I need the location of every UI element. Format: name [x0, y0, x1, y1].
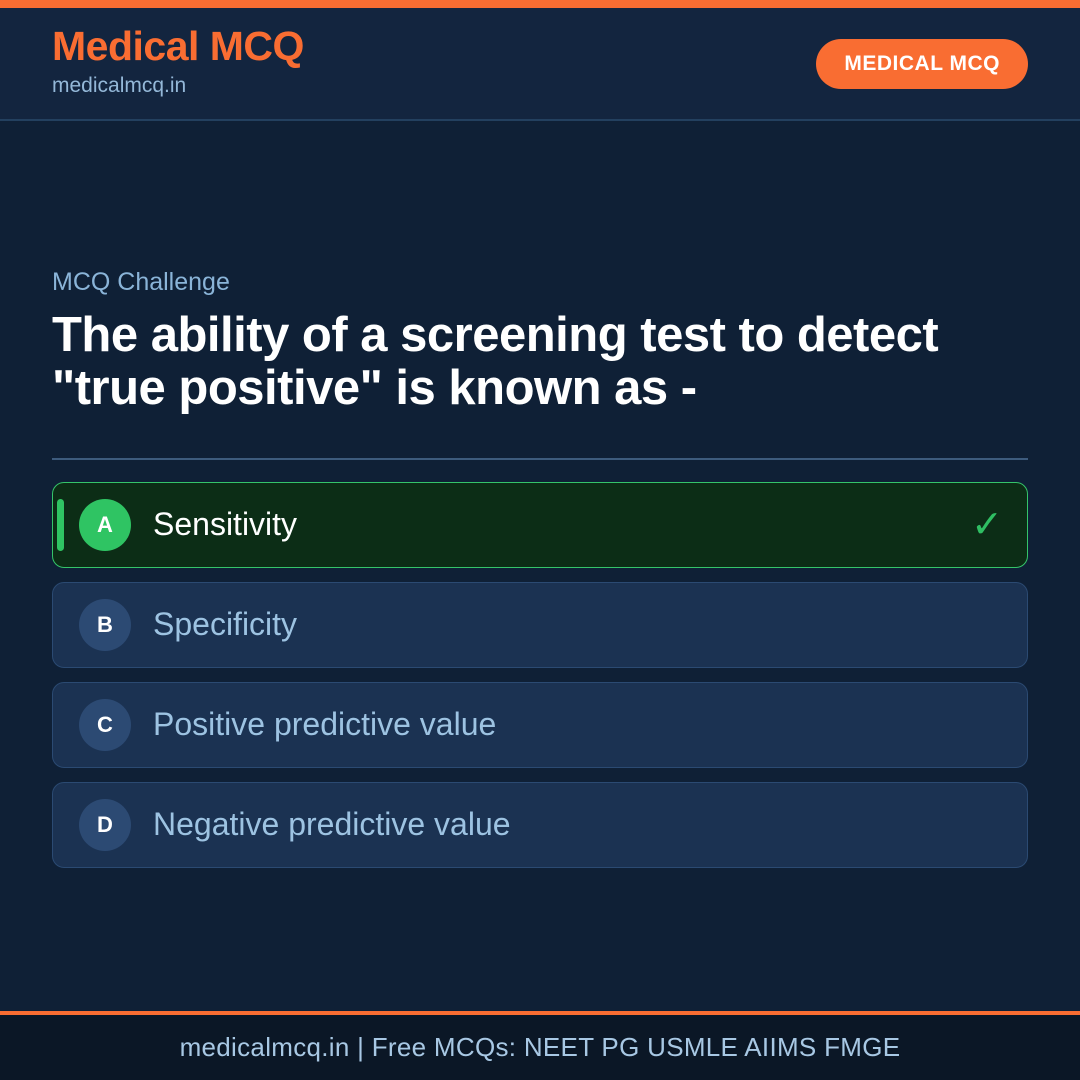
footer-text: medicalmcq.in | Free MCQs: NEET PG USMLE…: [180, 1032, 901, 1063]
section-divider: [52, 458, 1028, 460]
option-a[interactable]: A Sensitivity ✓: [52, 482, 1028, 568]
option-c[interactable]: C Positive predictive value: [52, 682, 1028, 768]
option-label: Negative predictive value: [153, 807, 511, 842]
page-header: Medical MCQ medicalmcq.in MEDICAL MCQ: [0, 8, 1080, 121]
option-letter-badge: C: [79, 699, 131, 751]
brand-subtitle: medicalmcq.in: [52, 70, 304, 102]
option-letter-badge: D: [79, 799, 131, 851]
question-text: The ability of a screening test to detec…: [52, 309, 1028, 415]
top-accent-bar: [0, 0, 1080, 8]
brand-block: Medical MCQ medicalmcq.in: [52, 25, 304, 102]
correct-accent-bar: [57, 499, 64, 551]
option-d[interactable]: D Negative predictive value: [52, 782, 1028, 868]
page-footer: medicalmcq.in | Free MCQs: NEET PG USMLE…: [0, 1011, 1080, 1080]
option-label: Positive predictive value: [153, 707, 496, 742]
main-content: MCQ Challenge The ability of a screening…: [0, 121, 1080, 1011]
option-b[interactable]: B Specificity: [52, 582, 1028, 668]
checkmark-icon: ✓: [971, 506, 1003, 544]
brand-title: Medical MCQ: [52, 25, 304, 68]
brand-badge: MEDICAL MCQ: [816, 39, 1028, 89]
option-label: Sensitivity: [153, 507, 297, 542]
option-letter-badge: B: [79, 599, 131, 651]
option-label: Specificity: [153, 607, 297, 642]
mcq-kicker-label: MCQ Challenge: [52, 267, 1028, 297]
options-list: A Sensitivity ✓ B Specificity C Positive…: [52, 482, 1028, 868]
option-letter-badge: A: [79, 499, 131, 551]
